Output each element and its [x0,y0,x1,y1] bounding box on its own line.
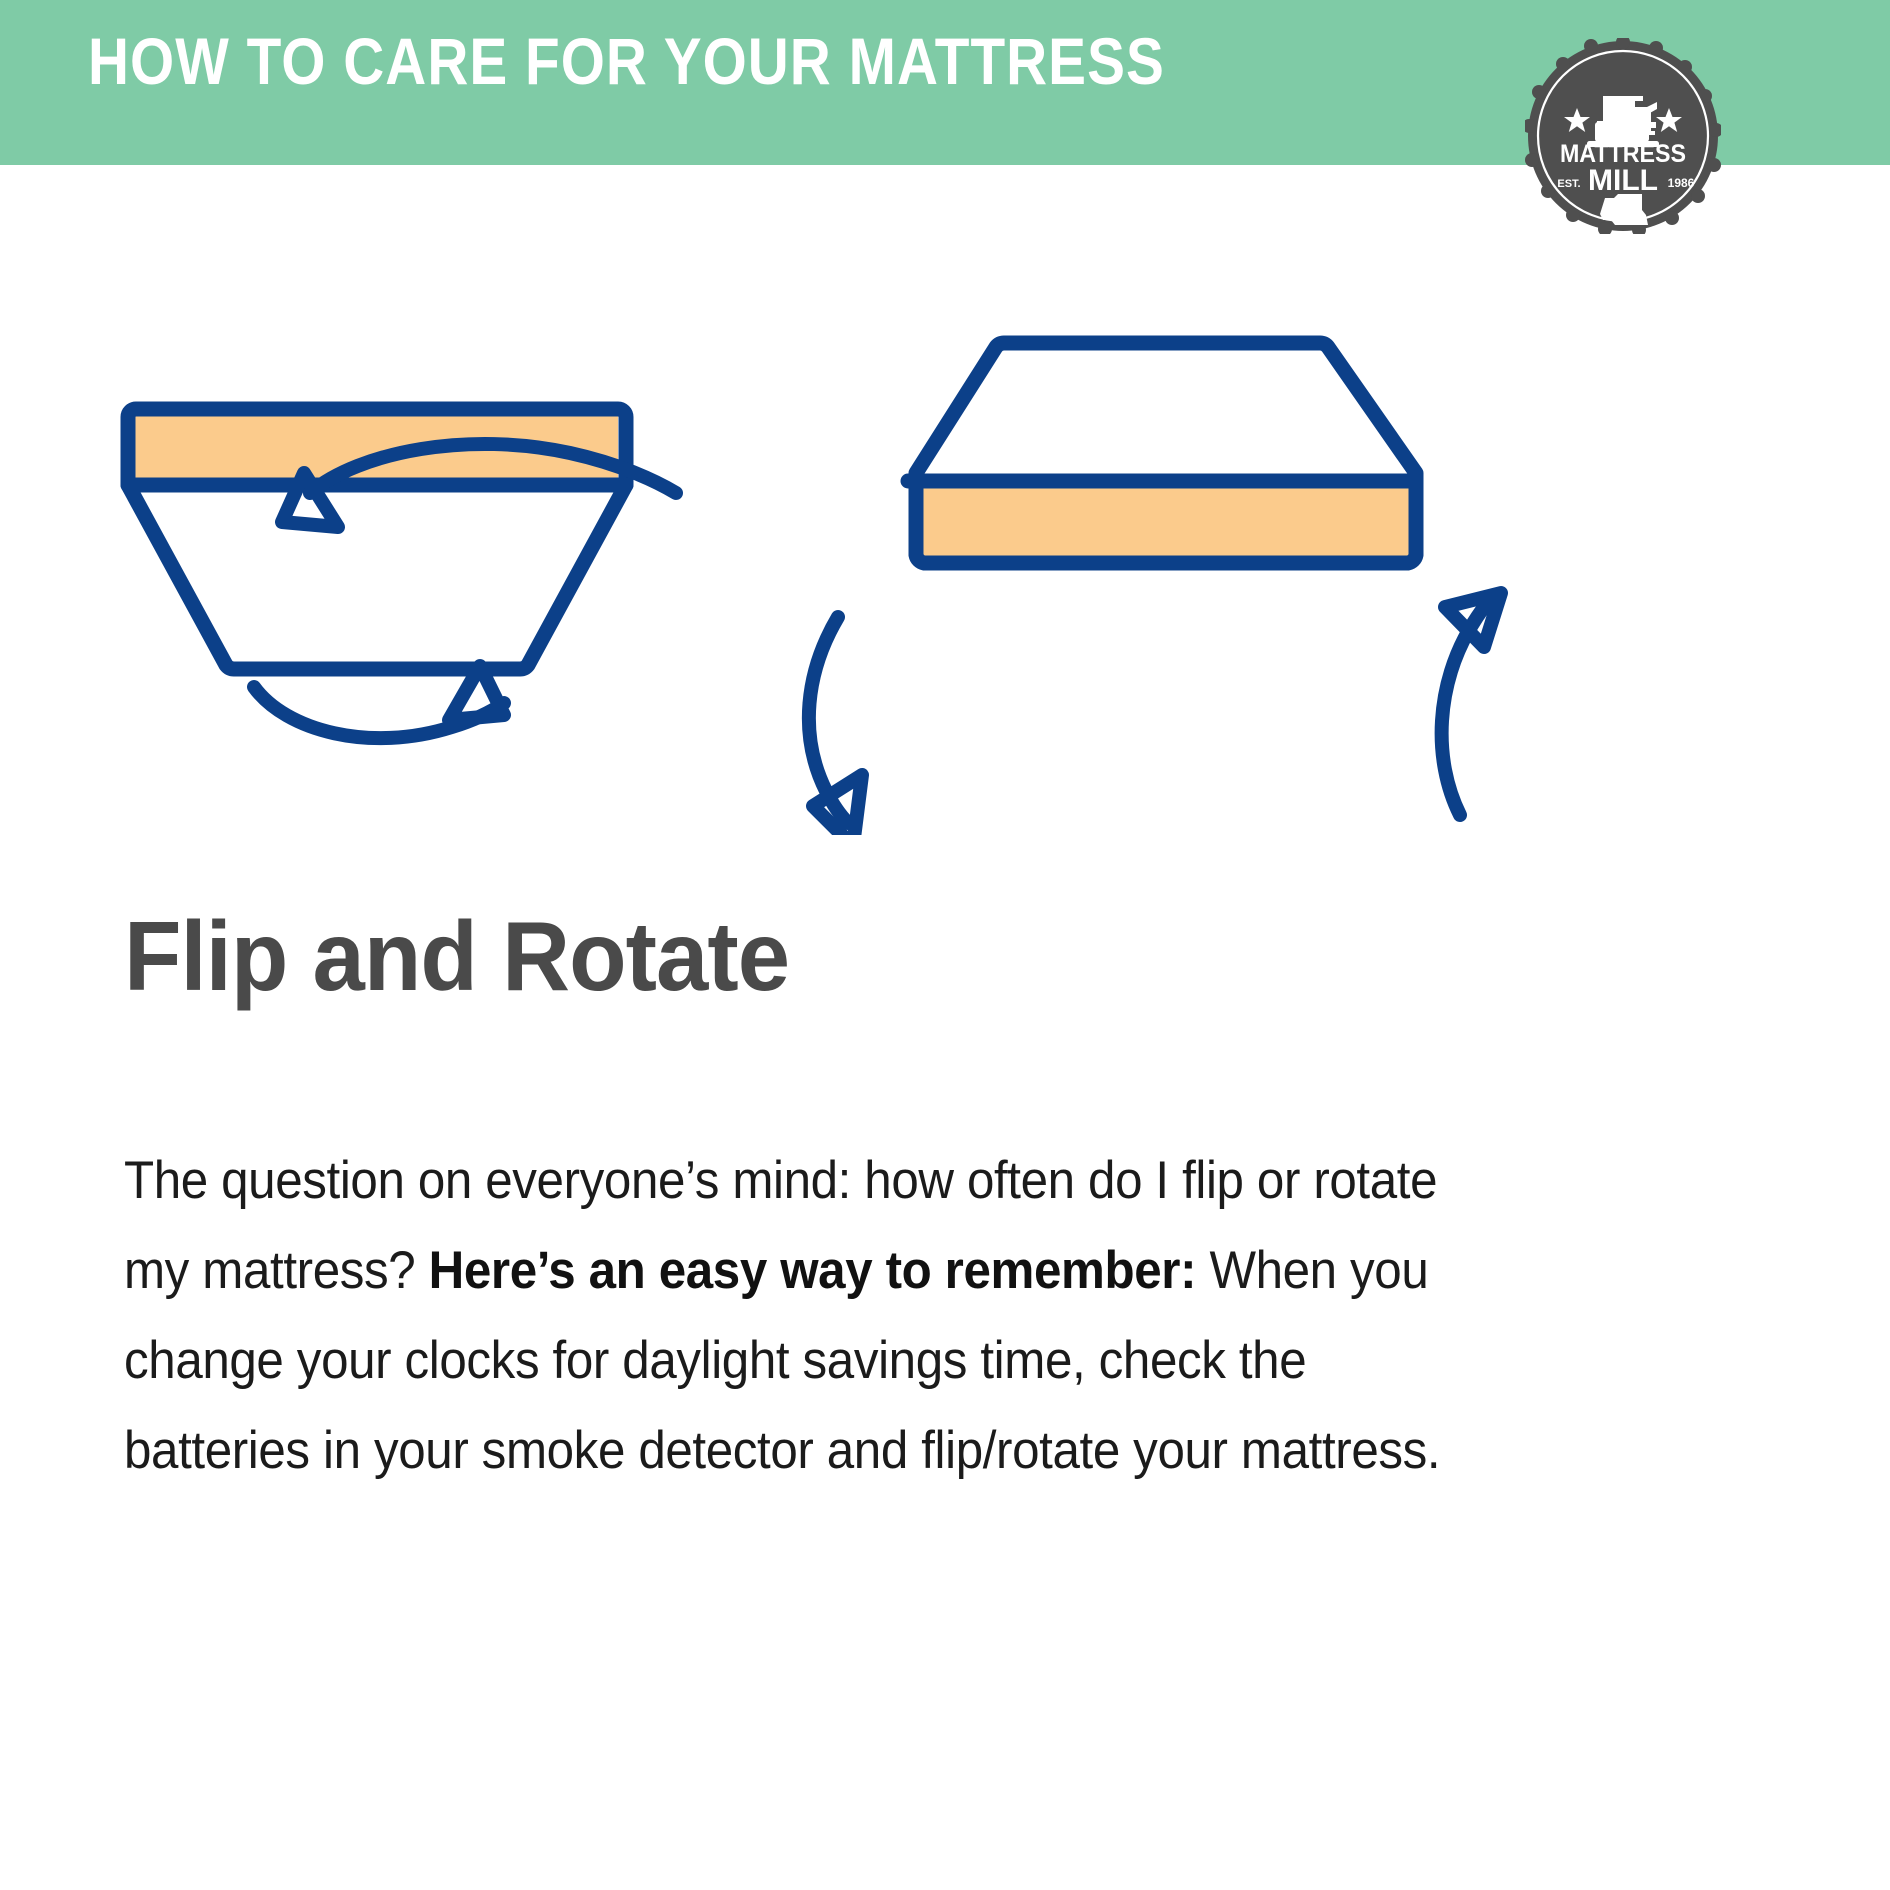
section-heading: Flip and Rotate [124,905,1660,1008]
flip-arrow-left-down [809,617,862,835]
rotate-arrow-bottom-right [254,666,504,738]
flip-arrow-right-up [1442,593,1501,815]
page-title: HOW TO CARE FOR YOUR MATTRESS [88,28,1165,94]
body-paragraph: The question on everyone’s mind: how oft… [124,1136,1473,1496]
flip-and-rotate-illustration [0,175,1890,835]
mattress-comfort-layer [910,481,1410,558]
body-emphasis: Here’s an easy way to remember: [429,1241,1196,1300]
infographic-card: HOW TO CARE FOR YOUR MATTRESS [0,0,1890,1890]
mattress-flipped [908,343,1416,563]
content-block: Flip and Rotate The question on everyone… [124,905,1724,1496]
